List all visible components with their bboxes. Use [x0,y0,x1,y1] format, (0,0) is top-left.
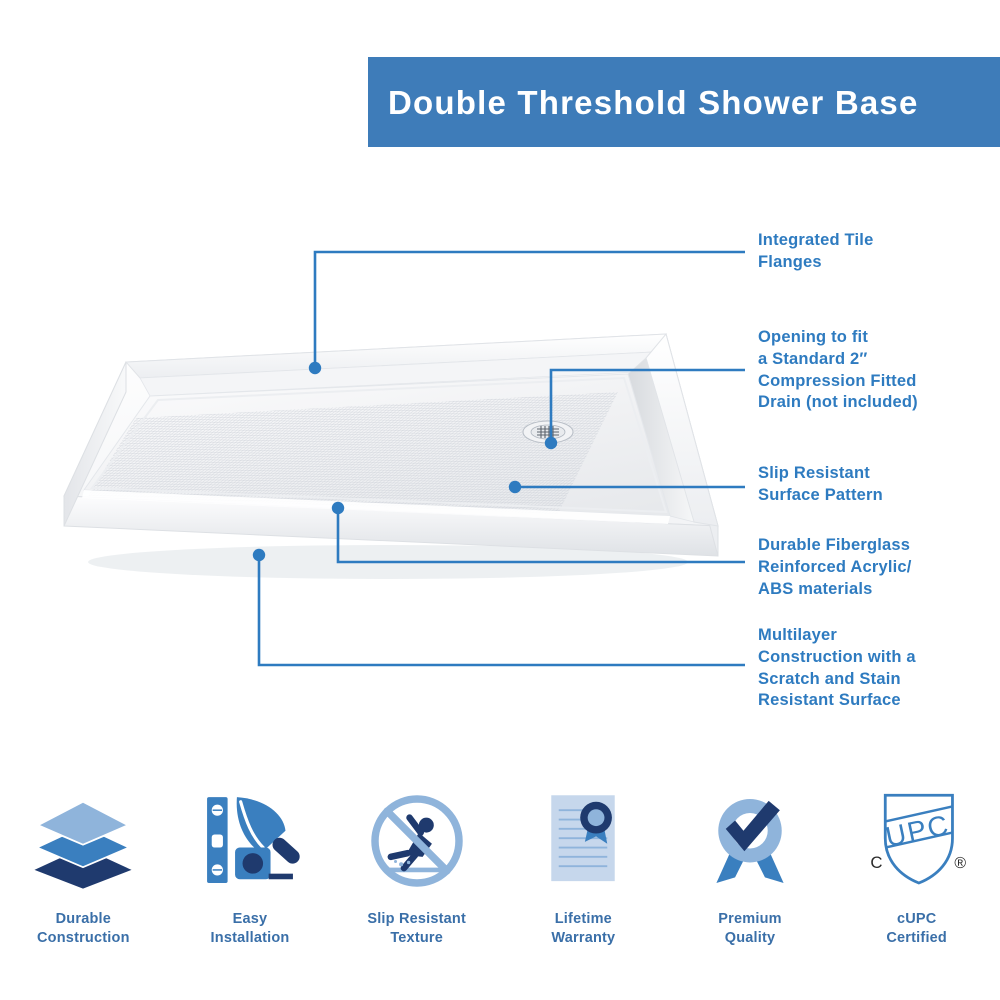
callout-multilayer-construction: Multilayer Construction with a Scratch a… [758,625,916,712]
page-title-bar: Double Threshold Shower Base [368,57,1000,147]
no-slip-icon [358,782,476,900]
feature-label: Premium Quality [718,910,781,948]
feature-label: cUPC Certified [886,910,947,948]
feature-label: Slip Resistant Texture [367,910,466,948]
feature-lifetime-warranty: Lifetime Warranty [500,782,667,982]
feature-premium-quality: Premium Quality [667,782,834,982]
product-image [18,300,758,600]
feature-easy-installation: Easy Installation [167,782,334,982]
callout-drain-opening: Opening to fit a Standard 2″ Compression… [758,327,918,414]
feature-label: Easy Installation [211,910,290,948]
upc-left-mark: C [870,853,882,872]
upc-shield-icon: UPC C ® [858,782,976,900]
callout-slip-resistant-surface: Slip Resistant Surface Pattern [758,463,883,507]
layers-icon [24,782,142,900]
warranty-doc-icon [524,782,642,900]
quality-ribbon-icon [691,782,809,900]
feature-label: Lifetime Warranty [551,910,615,948]
upc-right-mark: ® [954,855,966,872]
feature-durable-construction: Durable Construction [0,782,167,982]
feature-badges-row: Durable Construction [0,782,1000,982]
callout-integrated-tile-flanges: Integrated Tile Flanges [758,230,873,274]
feature-cupc-certified: UPC C ® cUPC Certified [833,782,1000,982]
feature-label: Durable Construction [37,910,130,948]
drain-opening-icon [523,421,573,443]
feature-slip-resistant-texture: Slip Resistant Texture [333,782,500,982]
page-title: Double Threshold Shower Base [388,86,919,119]
callout-durable-materials: Durable Fiberglass Reinforced Acrylic/ A… [758,535,912,600]
level-trowel-icon [191,782,309,900]
